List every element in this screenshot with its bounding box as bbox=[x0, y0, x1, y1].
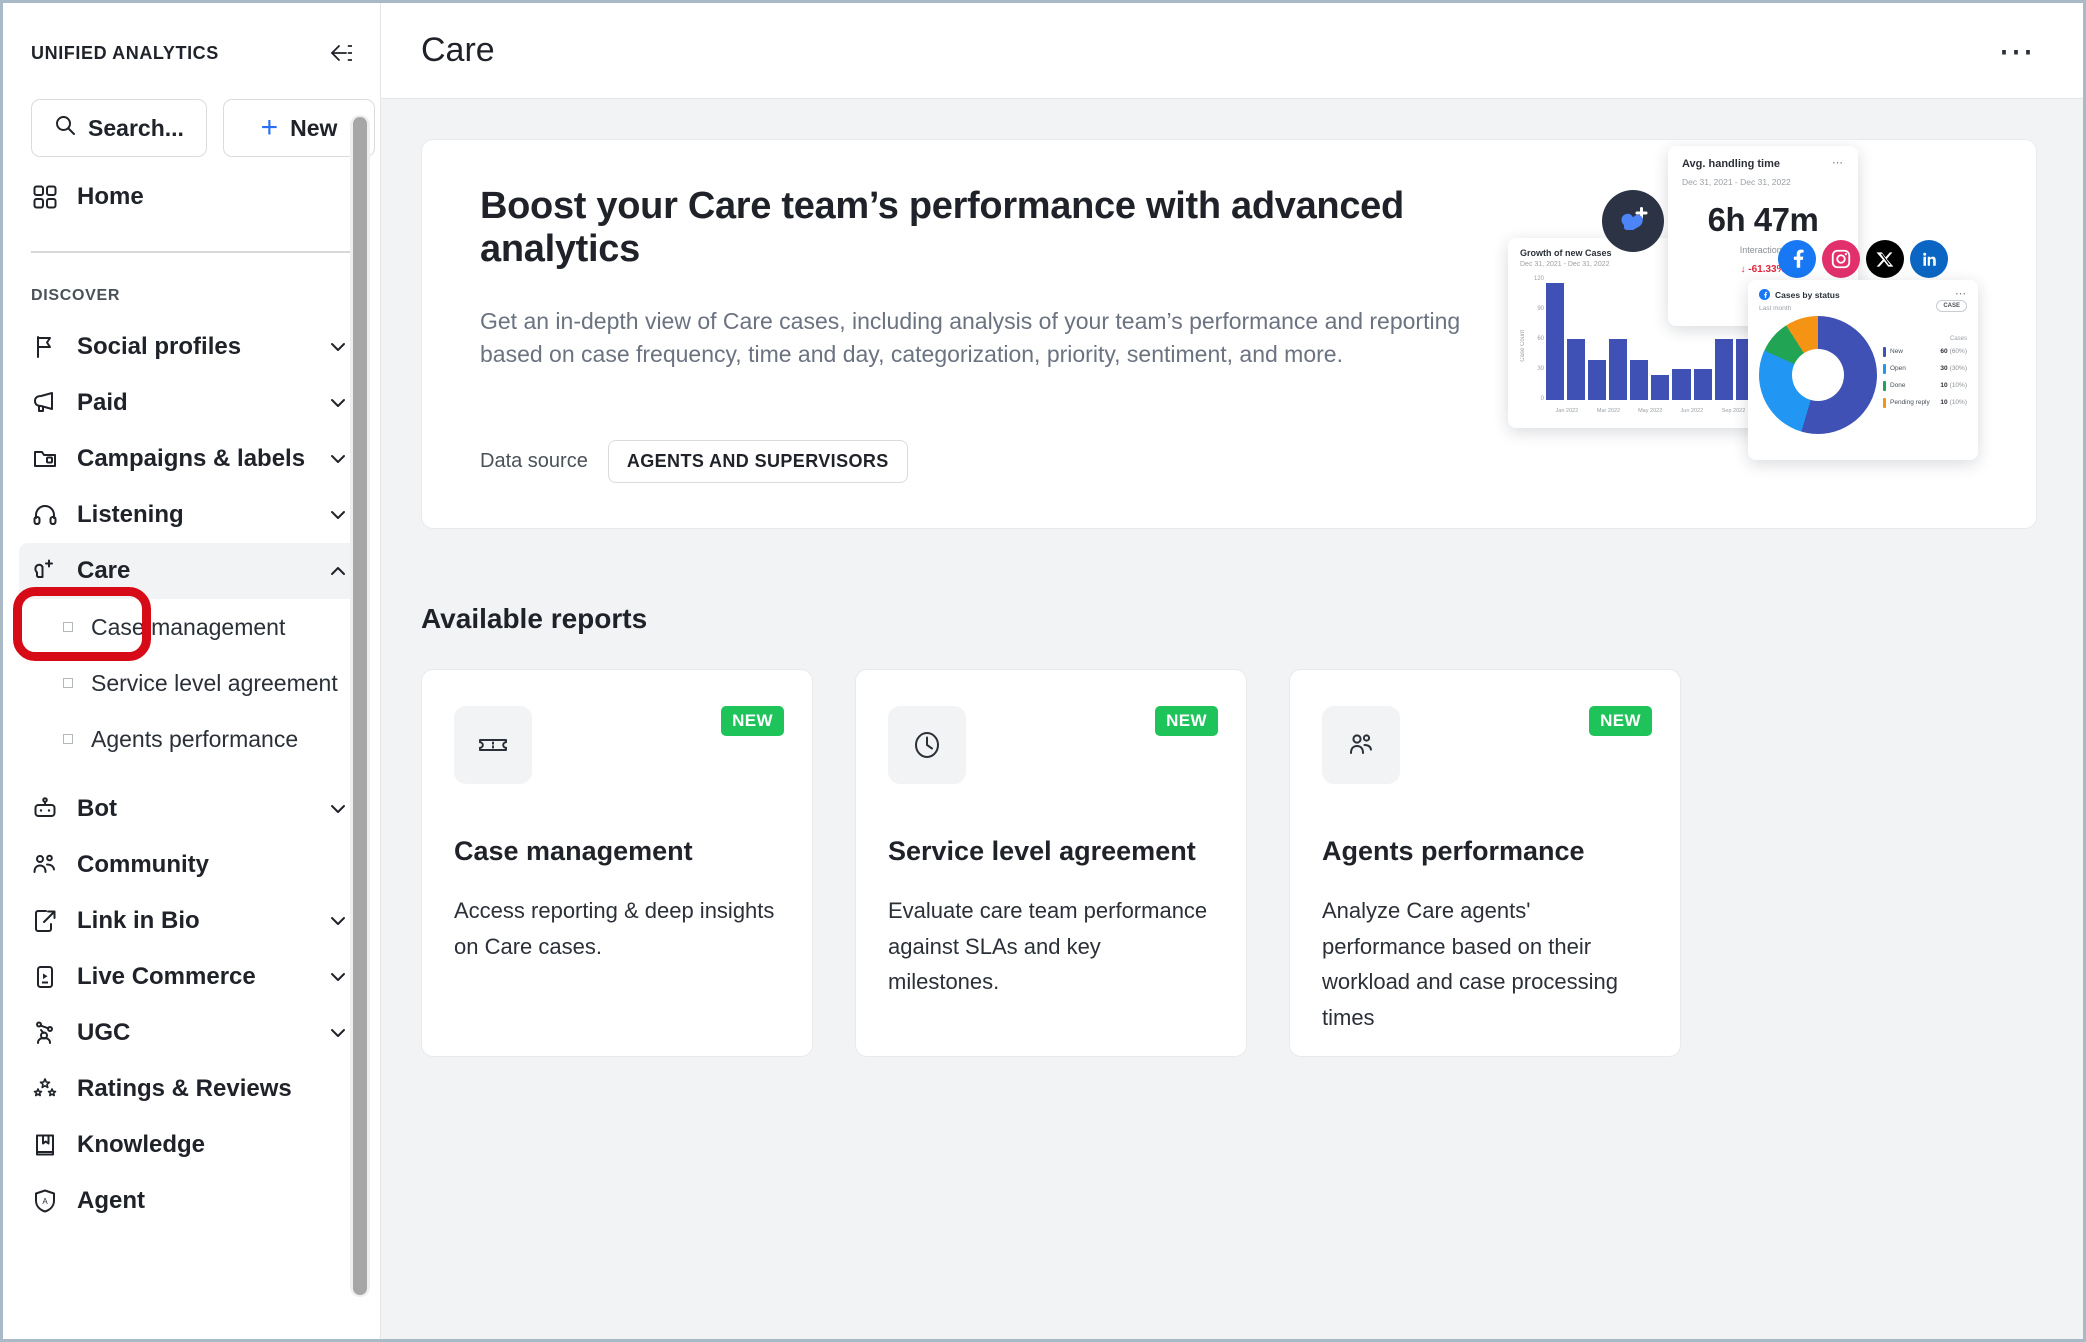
sidebar-item-label: Knowledge bbox=[77, 1131, 308, 1159]
report-card-desc: Access reporting & deep insights on Care… bbox=[454, 893, 780, 964]
legend-value: 10 bbox=[1940, 399, 1947, 406]
xtick: Mar 2022 bbox=[1588, 408, 1630, 414]
chevron-up-icon[interactable] bbox=[326, 560, 350, 582]
donut-chart bbox=[1759, 316, 1877, 434]
donut-legend-row: Pending reply10(10%) bbox=[1883, 398, 1967, 408]
sidebar: UNIFIED ANALYTICS Search... + New bbox=[3, 3, 381, 1339]
bar bbox=[1715, 339, 1733, 400]
sidebar-item-home-label: Home bbox=[77, 183, 144, 211]
mini-chart-yticks: 120 90 60 30 0 bbox=[1526, 276, 1546, 416]
hero-heading: Boost your Care team’s performance with … bbox=[480, 185, 1482, 271]
sidebar-header: UNIFIED ANALYTICS bbox=[3, 3, 380, 65]
chevron-down-icon[interactable] bbox=[326, 336, 350, 358]
legend-label: New bbox=[1890, 348, 1940, 355]
status-badge: NEW bbox=[1155, 706, 1218, 736]
kpi-date-range: Dec 31, 2021 - Dec 31, 2022 bbox=[1682, 177, 1844, 187]
care-heart-plus-icon bbox=[1616, 204, 1650, 238]
kpi-card-header: Avg. handling time ⋯ bbox=[1682, 158, 1844, 170]
sidebar-item-paid[interactable]: Paid bbox=[19, 375, 364, 431]
xtick: May 2022 bbox=[1629, 408, 1671, 414]
chevron-down-icon[interactable] bbox=[326, 966, 350, 988]
main-content: Care ⋯ Boost your Care team’s performanc… bbox=[381, 3, 2083, 1339]
legend-percent: (30%) bbox=[1950, 365, 1967, 372]
search-button[interactable]: Search... bbox=[31, 99, 207, 157]
legend-percent: (10%) bbox=[1950, 399, 1967, 406]
care-badge-blob bbox=[1602, 190, 1664, 252]
folder-tag-icon bbox=[31, 445, 59, 473]
xtick: Jun 2022 bbox=[1671, 408, 1713, 414]
report-card-desc: Analyze Care agents' performance based o… bbox=[1322, 893, 1648, 1036]
linkedin-icon bbox=[1910, 240, 1948, 278]
legend-label: Open bbox=[1890, 365, 1940, 372]
sidebar-item-ratings-reviews[interactable]: Ratings & Reviews bbox=[19, 1061, 364, 1117]
hero-text-block: Boost your Care team’s performance with … bbox=[422, 185, 1482, 483]
care-heart-plus-icon bbox=[31, 557, 59, 585]
flag-icon bbox=[31, 333, 59, 361]
report-card-title: Agents performance bbox=[1322, 836, 1648, 867]
arrow-down-icon: ↓ bbox=[1740, 264, 1745, 275]
sidebar-item-agent[interactable]: A Agent bbox=[19, 1173, 364, 1229]
donut-legend-row: New60(60%) bbox=[1883, 347, 1967, 357]
legend-label: Pending reply bbox=[1890, 399, 1940, 406]
top-bar: Care ⋯ bbox=[381, 3, 2083, 99]
data-source-row: Data source AGENTS AND SUPERVISORS bbox=[480, 440, 1482, 483]
sidebar-item-live-commerce[interactable]: Live Commerce bbox=[19, 949, 364, 1005]
x-icon bbox=[1866, 240, 1904, 278]
kpi-title: Avg. handling time bbox=[1682, 158, 1780, 170]
care-subnav: Case management Service level agreement … bbox=[3, 599, 380, 767]
donut-card-title-group: Cases by status bbox=[1759, 289, 1840, 300]
collapse-panel-icon[interactable] bbox=[322, 41, 352, 65]
hero-banner: Boost your Care team’s performance with … bbox=[421, 139, 2037, 529]
donut-subtitle: Last month bbox=[1759, 305, 1791, 312]
sidebar-subitem-case-management[interactable]: Case management bbox=[19, 599, 364, 655]
plus-icon: + bbox=[261, 113, 279, 143]
clock-icon bbox=[888, 706, 966, 784]
data-source-label: Data source bbox=[480, 450, 588, 473]
stars-icon bbox=[31, 1075, 59, 1103]
sidebar-item-link-in-bio[interactable]: Link in Bio bbox=[19, 893, 364, 949]
sidebar-item-bot[interactable]: Bot bbox=[19, 781, 364, 837]
donut-legend-row: Done10(10%) bbox=[1883, 381, 1967, 391]
sidebar-section-discover: DISCOVER bbox=[3, 253, 380, 305]
donut-card-header: Cases by status ⋯ bbox=[1759, 289, 1967, 300]
donut-legend-row: Open30(30%) bbox=[1883, 364, 1967, 374]
legend-swatch bbox=[1883, 364, 1886, 374]
xtick: Jan 2022 bbox=[1546, 408, 1588, 414]
more-options-icon[interactable]: ⋯ bbox=[1955, 292, 1967, 298]
legend-percent: (10%) bbox=[1950, 382, 1967, 389]
shield-a-icon: A bbox=[31, 1187, 59, 1215]
bar bbox=[1609, 339, 1627, 400]
bullet-icon bbox=[63, 734, 73, 744]
report-cards-list: NEW Case management Access reporting & d… bbox=[421, 669, 2037, 1057]
brand-title: UNIFIED ANALYTICS bbox=[31, 43, 219, 64]
bar bbox=[1567, 339, 1585, 400]
more-options-icon[interactable]: ⋯ bbox=[1998, 40, 2037, 62]
report-card-service-level-agreement[interactable]: NEW Service level agreement Evaluate car… bbox=[855, 669, 1247, 1057]
facebook-icon bbox=[1759, 289, 1770, 300]
ytick: 0 bbox=[1541, 396, 1544, 402]
chevron-down-icon[interactable] bbox=[326, 448, 350, 470]
search-icon bbox=[54, 114, 76, 142]
chevron-down-icon[interactable] bbox=[326, 392, 350, 414]
instagram-icon bbox=[1822, 240, 1860, 278]
sidebar-item-label: Link in Bio bbox=[77, 907, 308, 935]
sidebar-subitem-label: Case management bbox=[91, 614, 285, 641]
sidebar-item-label: UGC bbox=[77, 1019, 308, 1047]
new-button-label: New bbox=[290, 115, 337, 142]
donut-body: Cases New60(60%)Open30(30%)Done10(10%)Pe… bbox=[1759, 316, 1967, 434]
sidebar-item-label: Community bbox=[77, 851, 308, 879]
sidebar-item-listening[interactable]: Listening bbox=[19, 487, 364, 543]
sidebar-item-label: Care bbox=[77, 557, 308, 585]
legend-swatch bbox=[1883, 381, 1886, 391]
legend-swatch bbox=[1883, 347, 1886, 357]
sidebar-scrollbar-track[interactable] bbox=[350, 115, 370, 1297]
grid-icon bbox=[31, 183, 59, 211]
legend-swatch bbox=[1883, 398, 1886, 408]
mini-chart-cases-by-status: Cases by status ⋯ Last month CASE Cases bbox=[1748, 280, 1978, 460]
donut-legend-header: Cases bbox=[1883, 336, 1967, 342]
status-badge: NEW bbox=[1589, 706, 1652, 736]
bar bbox=[1588, 360, 1606, 400]
legend-value: 10 bbox=[1940, 382, 1947, 389]
sidebar-subitem-label: Service level agreement bbox=[91, 670, 338, 697]
svg-text:A: A bbox=[42, 1197, 48, 1206]
link-external-icon bbox=[31, 907, 59, 935]
bar bbox=[1694, 369, 1712, 400]
bar bbox=[1546, 283, 1564, 400]
sidebar-item-label: Bot bbox=[77, 795, 308, 823]
report-card-agents-performance[interactable]: NEW Agents performance Analyze Care agen… bbox=[1289, 669, 1681, 1057]
social-icons-row bbox=[1778, 240, 1948, 278]
chevron-down-icon[interactable] bbox=[326, 1022, 350, 1044]
people-icon bbox=[31, 851, 59, 879]
sidebar-actions: Search... + New bbox=[3, 65, 380, 157]
bar bbox=[1672, 369, 1690, 400]
chevron-down-icon[interactable] bbox=[326, 910, 350, 932]
sidebar-item-label: Agent bbox=[77, 1187, 308, 1215]
play-mobile-icon bbox=[31, 963, 59, 991]
status-badge: NEW bbox=[721, 706, 784, 736]
hero-illustration: Growth of new Cases Dec 31, 2021 - Dec 3… bbox=[1508, 140, 1978, 529]
legend-percent: (60%) bbox=[1950, 348, 1967, 355]
sidebar-nav-top: Social profiles Paid bbox=[3, 305, 380, 599]
donut-badge[interactable]: CASE bbox=[1936, 300, 1967, 312]
sidebar-item-home[interactable]: Home bbox=[3, 157, 380, 211]
bar bbox=[1630, 360, 1648, 400]
facebook-icon bbox=[1778, 240, 1816, 278]
legend-value: 30 bbox=[1940, 365, 1947, 372]
sidebar-scrollbar-thumb[interactable] bbox=[353, 117, 367, 1295]
headphones-icon bbox=[31, 501, 59, 529]
hero-body: Get an in-depth view of Care cases, incl… bbox=[480, 305, 1482, 370]
search-button-label: Search... bbox=[88, 115, 184, 142]
app-window: UNIFIED ANALYTICS Search... + New bbox=[3, 3, 2083, 1339]
report-card-title: Case management bbox=[454, 836, 780, 867]
more-options-icon[interactable]: ⋯ bbox=[1832, 161, 1844, 167]
ytick: 120 bbox=[1534, 276, 1544, 282]
report-card-case-management[interactable]: NEW Case management Access reporting & d… bbox=[421, 669, 813, 1057]
report-card-desc: Evaluate care team performance against S… bbox=[888, 893, 1214, 1000]
sidebar-subitem-service-level-agreement[interactable]: Service level agreement bbox=[19, 655, 364, 711]
donut-legend: Cases New60(60%)Open30(30%)Done10(10%)Pe… bbox=[1877, 336, 1967, 415]
sidebar-item-knowledge[interactable]: Knowledge bbox=[19, 1117, 364, 1173]
data-source-chip[interactable]: AGENTS AND SUPERVISORS bbox=[608, 440, 908, 483]
sidebar-nav-bottom: Bot Community bbox=[3, 767, 380, 1229]
kpi-value: 6h 47m bbox=[1682, 201, 1844, 239]
legend-label: Done bbox=[1890, 382, 1940, 389]
people-icon bbox=[1322, 706, 1400, 784]
sidebar-subitem-agents-performance[interactable]: Agents performance bbox=[19, 711, 364, 767]
donut-title: Cases by status bbox=[1775, 290, 1840, 300]
sidebar-item-care[interactable]: Care bbox=[19, 543, 364, 599]
legend-value: 60 bbox=[1940, 348, 1947, 355]
ytick: 60 bbox=[1537, 336, 1544, 342]
sidebar-item-label: Paid bbox=[77, 389, 308, 417]
report-card-title: Service level agreement bbox=[888, 836, 1214, 867]
sidebar-item-community[interactable]: Community bbox=[19, 837, 364, 893]
sidebar-item-label: Live Commerce bbox=[77, 963, 308, 991]
content-scroll-area: Boost your Care team’s performance with … bbox=[381, 99, 2083, 1339]
sidebar-item-label: Listening bbox=[77, 501, 308, 529]
sidebar-item-label: Social profiles bbox=[77, 333, 308, 361]
ugc-network-icon bbox=[31, 1019, 59, 1047]
bullet-icon bbox=[63, 678, 73, 688]
book-bookmark-icon bbox=[31, 1131, 59, 1159]
sidebar-subitem-label: Agents performance bbox=[91, 726, 298, 753]
robot-icon bbox=[31, 795, 59, 823]
bullet-icon bbox=[63, 622, 73, 632]
sidebar-item-ugc[interactable]: UGC bbox=[19, 1005, 364, 1061]
chevron-down-icon[interactable] bbox=[326, 504, 350, 526]
sidebar-item-campaigns-labels[interactable]: Campaigns & labels bbox=[19, 431, 364, 487]
page-title: Care bbox=[421, 31, 495, 70]
bar bbox=[1651, 375, 1669, 400]
ytick: 30 bbox=[1537, 366, 1544, 372]
sidebar-item-label: Campaigns & labels bbox=[77, 445, 308, 473]
available-reports-title: Available reports bbox=[421, 603, 2037, 635]
sidebar-item-social-profiles[interactable]: Social profiles bbox=[19, 319, 364, 375]
sidebar-item-label: Ratings & Reviews bbox=[77, 1075, 308, 1103]
megaphone-icon bbox=[31, 389, 59, 417]
ytick: 90 bbox=[1537, 306, 1544, 312]
ticket-icon bbox=[454, 706, 532, 784]
chevron-down-icon[interactable] bbox=[326, 798, 350, 820]
